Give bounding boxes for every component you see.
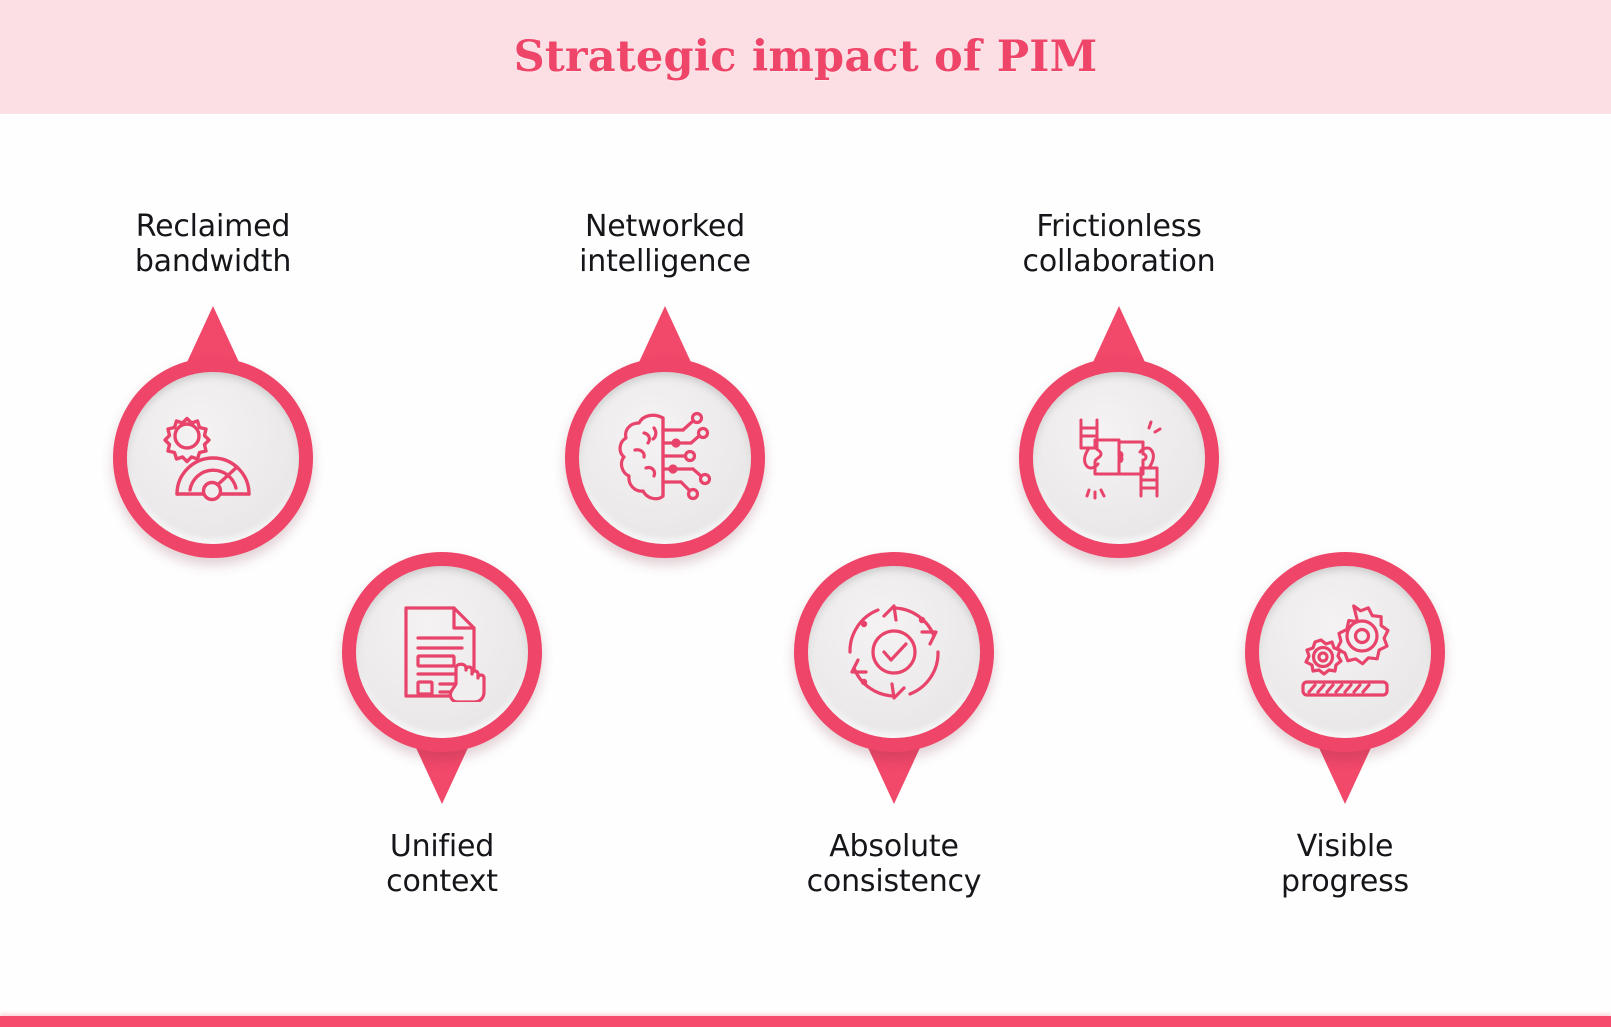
pin-label-frictionless-collaboration: Frictionless collaboration: [954, 210, 1284, 280]
pin-label-visible-progress: Visible progress: [1180, 830, 1510, 900]
pin-shape: [1019, 358, 1219, 558]
pin-shape: [794, 552, 994, 752]
pin-shape: [113, 358, 313, 558]
cycle-check-icon: [844, 602, 944, 702]
pin-absolute-consistency[interactable]: Absolute consistency: [789, 552, 999, 752]
pin-disc: [808, 566, 980, 738]
pin-label-absolute-consistency: Absolute consistency: [729, 830, 1059, 900]
pin-disc: [127, 372, 299, 544]
page-title: Strategic impact of PIM: [514, 32, 1098, 82]
ai-brain-circuit-icon: [613, 408, 717, 508]
gauge-gear-icon: [161, 410, 265, 506]
pin-label-unified-context: Unified context: [277, 830, 607, 900]
document-hand-icon: [394, 602, 490, 702]
pin-reclaimed-bandwidth[interactable]: Reclaimed bandwidth: [108, 358, 318, 558]
gears-progressbar-icon: [1293, 604, 1397, 700]
pin-networked-intelligence[interactable]: Networked intelligence: [560, 358, 770, 558]
pin-unified-context[interactable]: Unified context: [337, 552, 547, 752]
bottom-accent-bar: [0, 1016, 1611, 1027]
pin-label-networked-intelligence: Networked intelligence: [500, 210, 830, 280]
pin-shape: [1245, 552, 1445, 752]
pin-frictionless-collaboration[interactable]: Frictionless collaboration: [1014, 358, 1224, 558]
pin-shape: [342, 552, 542, 752]
pin-shape: [565, 358, 765, 558]
pin-disc: [1259, 566, 1431, 738]
pin-visible-progress[interactable]: Visible progress: [1240, 552, 1450, 752]
pin-label-reclaimed-bandwidth: Reclaimed bandwidth: [48, 210, 378, 280]
pin-disc: [356, 566, 528, 738]
pin-disc: [1033, 372, 1205, 544]
infographic-canvas: Strategic impact of PIM Reclaimed bandwi…: [0, 0, 1611, 1027]
header-band: Strategic impact of PIM: [0, 0, 1611, 114]
pin-disc: [579, 372, 751, 544]
puzzle-handshake-icon: [1067, 408, 1171, 508]
